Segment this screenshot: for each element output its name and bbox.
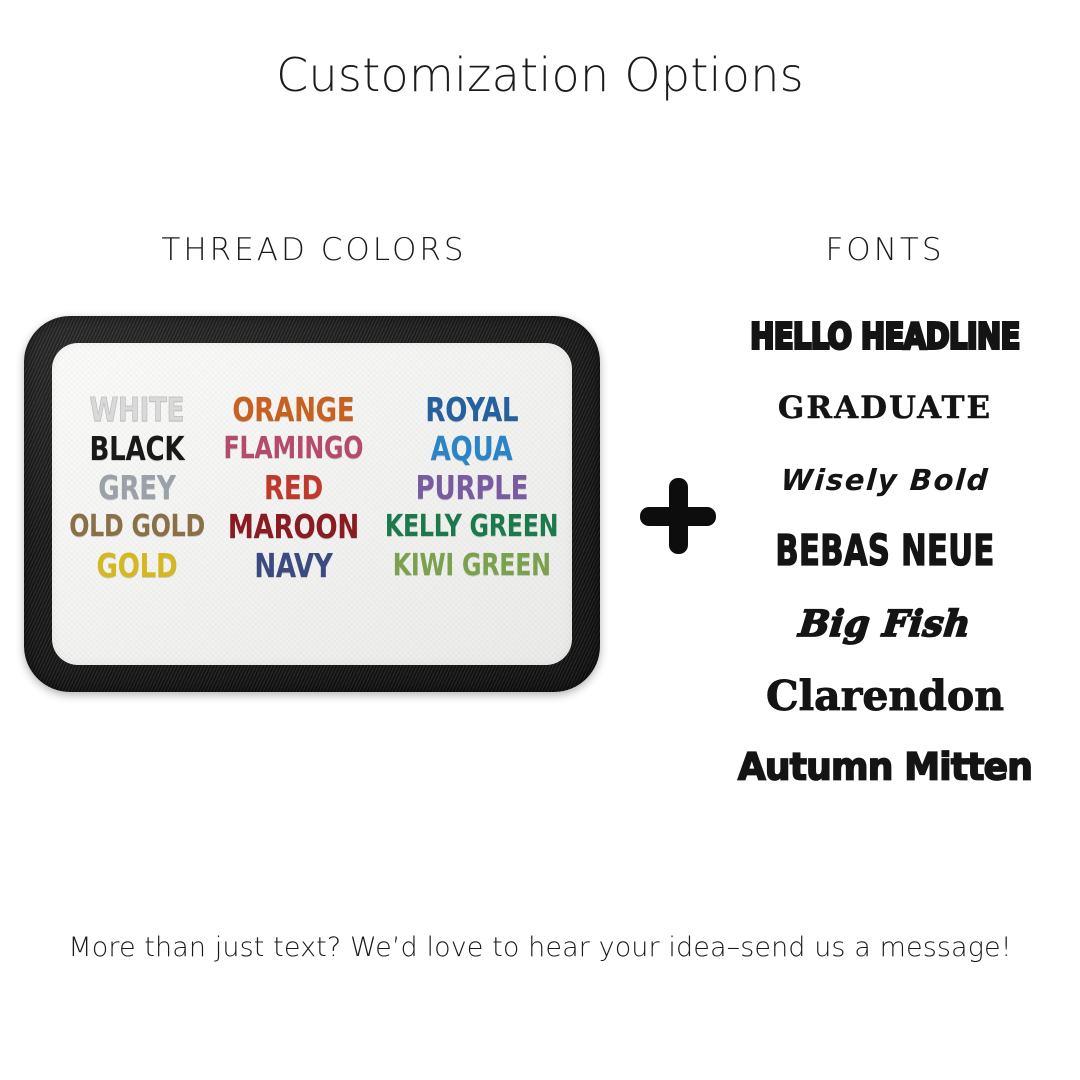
font-sample-clarendon: Clarendon bbox=[716, 660, 1054, 732]
thread-color-old-gold: OLD GOLD bbox=[69, 508, 205, 546]
font-sample-hello-headline: HELLO HEADLINE bbox=[716, 296, 1054, 377]
font-sample-big-fish: Big Fish bbox=[712, 588, 1058, 660]
thread-color-aqua: AQUA bbox=[431, 430, 513, 468]
thread-color-kelly-green: KELLY GREEN bbox=[385, 508, 558, 546]
thread-color-flamingo: FLAMINGO bbox=[224, 430, 364, 468]
thread-color-orange: ORANGE bbox=[233, 391, 355, 429]
font-sample-bebas-neue: BEBAS NEUE bbox=[738, 512, 1032, 591]
fonts-heading: FONTS bbox=[716, 232, 1054, 268]
footer-note: More than just text? We’d love to hear y… bbox=[0, 932, 1080, 963]
thread-colors-heading: THREAD COLORS bbox=[0, 232, 628, 268]
font-sample-wisely-bold: Wisely Bold bbox=[713, 444, 1056, 516]
thread-color-red: RED bbox=[264, 469, 323, 507]
font-sample-autumn-mitten: Autumn Mitten bbox=[716, 730, 1054, 806]
thread-color-grey: GREY bbox=[98, 469, 175, 507]
thread-color-white: WHITE bbox=[90, 391, 185, 429]
patch-face: WHITE BLACK GREY OLD GOLD GOLD ORANGE FL… bbox=[52, 343, 572, 665]
font-sample-graduate: GRADUATE bbox=[716, 372, 1054, 444]
plus-icon-vertical-bar bbox=[669, 478, 688, 554]
thread-color-grid: WHITE BLACK GREY OLD GOLD GOLD ORANGE FL… bbox=[52, 391, 572, 585]
thread-color-purple: PURPLE bbox=[415, 469, 528, 507]
thread-color-column-2: ORANGE FLAMINGO RED MAROON NAVY bbox=[214, 391, 373, 585]
fonts-sample-list: HELLO HEADLINE GRADUATE Wisely Bold BEBA… bbox=[716, 300, 1054, 804]
thread-colors-patch: WHITE BLACK GREY OLD GOLD GOLD ORANGE FL… bbox=[24, 316, 600, 692]
thread-color-maroon: MAROON bbox=[228, 508, 359, 546]
thread-color-navy: NAVY bbox=[255, 547, 333, 585]
thread-color-column-1: WHITE BLACK GREY OLD GOLD GOLD bbox=[60, 391, 214, 585]
thread-color-column-3: ROYAL AQUA PURPLE KELLY GREEN KIWI GREEN bbox=[373, 391, 570, 585]
thread-color-gold: GOLD bbox=[97, 547, 178, 585]
thread-color-kiwi-green: KIWI GREEN bbox=[393, 547, 551, 585]
thread-color-royal: ROYAL bbox=[425, 391, 518, 429]
page-title: Customization Options bbox=[0, 48, 1080, 102]
plus-icon bbox=[640, 478, 716, 554]
thread-color-black: BLACK bbox=[90, 430, 185, 468]
